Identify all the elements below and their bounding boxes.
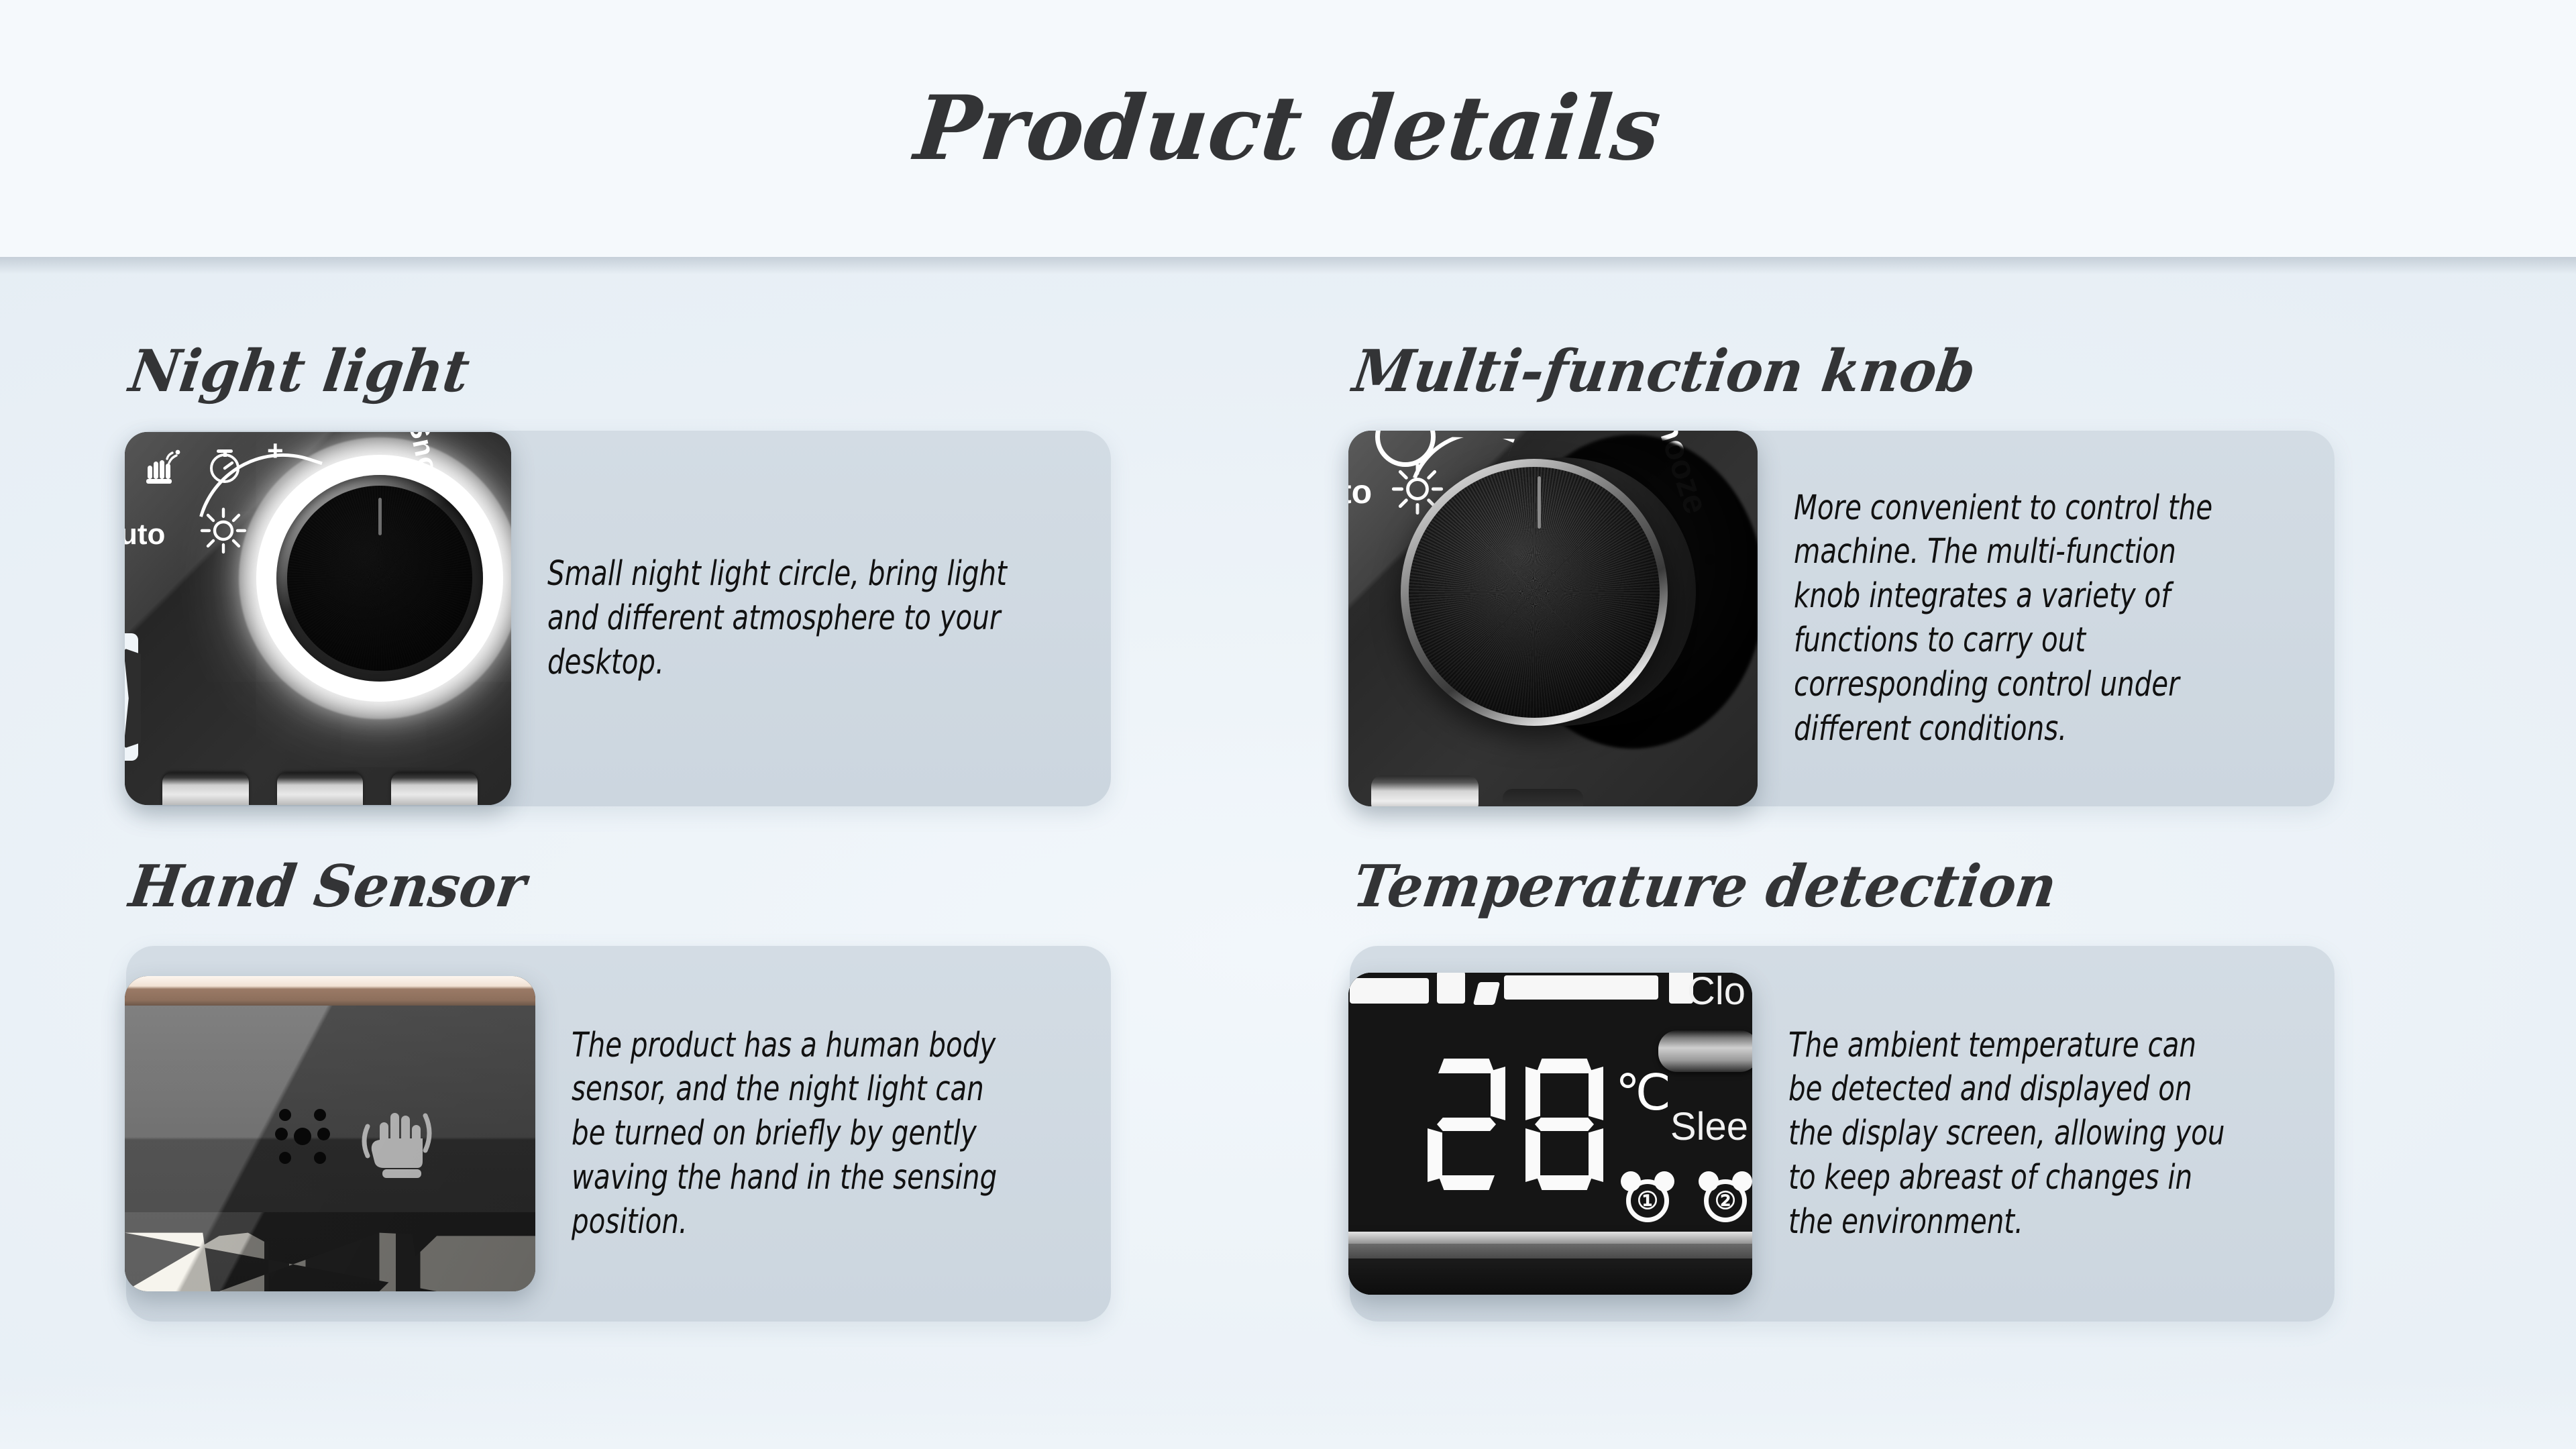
product-details-page: Product details Night light: [0, 0, 2576, 1449]
night-light-ring: [256, 455, 503, 702]
alarm-bear-1-icon: ①: [1621, 1171, 1674, 1225]
description-text: The ambient temperature can be detected …: [1788, 1024, 2236, 1244]
section-title-hand-sensor: Hand Sensor: [125, 853, 1067, 920]
top-button[interactable]: [1658, 1030, 1752, 1072]
description-temperature-detection: The ambient temperature can be detected …: [1752, 946, 2334, 1322]
feature-card-hand-sensor: The product has a human body sensor, and…: [126, 946, 1111, 1322]
section-title-temperature-detection: Temperature detection: [1349, 853, 2290, 920]
auto-label: to: [1348, 472, 1372, 511]
content-area: Night light: [0, 257, 2576, 1449]
feature-card-night-light: uto: [126, 431, 1111, 806]
sleep-label: Slee: [1670, 1104, 1748, 1149]
page-header: Product details: [0, 0, 2576, 257]
section-hand-sensor: Hand Sensor: [126, 853, 1111, 1322]
product-photo-temperature: Clo Slee: [1348, 973, 1752, 1295]
device-button-1: [162, 773, 249, 805]
clock-digits-partial: [1348, 973, 1712, 1013]
knob-position-mark: [378, 498, 382, 535]
celsius-icon: ℃: [1615, 1064, 1671, 1122]
description-text: More convenient to control the machine. …: [1794, 486, 2237, 751]
section-multi-function-knob: Multi-function knob to: [1350, 337, 2334, 806]
temperature-digit-tens: [1428, 1059, 1505, 1190]
description-night-light: Small night light circle, bring light an…: [511, 431, 1111, 806]
section-title-night-light: Night light: [125, 337, 1067, 405]
feature-grid: Night light: [0, 257, 2576, 1449]
lcd-screen: Clo Slee: [1348, 973, 1752, 1225]
copper-top-strip: [125, 976, 535, 1006]
device-base: [1348, 1258, 1752, 1295]
description-hand-sensor: The product has a human body sensor, and…: [535, 946, 1111, 1322]
product-photo-hand-sensor: [125, 976, 535, 1291]
feature-card-multi-function-knob: to: [1350, 431, 2334, 806]
page-title: Product details: [910, 76, 1666, 180]
device-button-row: [162, 773, 478, 805]
temperature-digit-ones: [1525, 1059, 1603, 1190]
section-temperature-detection: Temperature detection: [1350, 853, 2334, 1322]
section-title-multi-function-knob: Multi-function knob: [1349, 337, 2290, 405]
hand-wave-icon: [140, 447, 181, 488]
section-night-light: Night light: [126, 337, 1111, 806]
device-button-1: [1371, 775, 1479, 806]
description-text: The product has a human body sensor, and…: [572, 1024, 1013, 1244]
clock-label: Clo: [1687, 973, 1746, 1014]
knob-chrome-rim: [1401, 459, 1668, 726]
device-button-2: [277, 773, 364, 805]
lcd-reflection: [125, 1212, 535, 1291]
auto-label: uto: [125, 518, 165, 551]
description-text: Small night light circle, bring light an…: [547, 552, 1010, 684]
product-photo-knob: to: [1348, 431, 1758, 806]
product-photo-night-light: uto: [125, 432, 511, 805]
alarm-bear-2-icon: ②: [1699, 1171, 1752, 1225]
device-grey-bar: [1348, 1244, 1752, 1258]
alarm-indicator-group: ① ②: [1621, 1171, 1752, 1225]
device-button-3: [391, 773, 478, 805]
night-light-photo-scene: uto: [125, 432, 511, 805]
hand-sensor-photo-scene: [125, 976, 535, 1291]
description-multi-function-knob: More convenient to control the machine. …: [1758, 431, 2334, 806]
device-silver-bar: [1348, 1232, 1752, 1245]
seven-segment-display: [1428, 1059, 1603, 1190]
feature-card-temperature-detection: Clo Slee: [1350, 946, 2334, 1322]
knob-face: [1409, 467, 1660, 718]
knob-position-mark: [1538, 476, 1541, 529]
knob-face: [287, 486, 472, 671]
knob-bezel: [276, 475, 483, 682]
knob-photo-scene: to: [1348, 431, 1758, 806]
alarm-one-label: ①: [1626, 1179, 1669, 1222]
temperature-photo-scene: Clo Slee: [1348, 973, 1752, 1295]
plus-label: +: [267, 435, 284, 467]
alarm-two-label: ②: [1704, 1179, 1747, 1222]
device-button-2: [1503, 789, 1583, 806]
